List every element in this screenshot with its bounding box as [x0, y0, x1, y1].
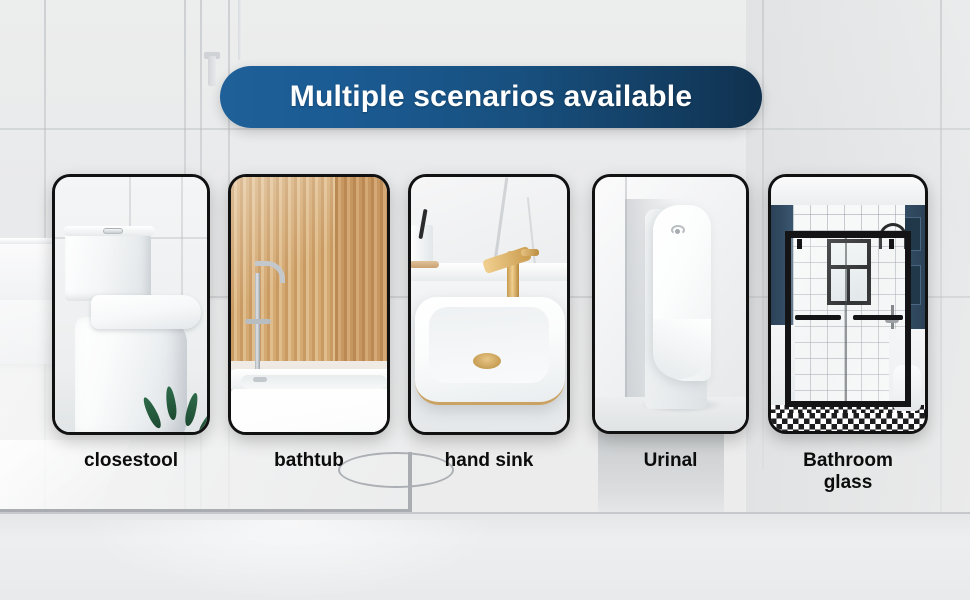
product-card-urinal[interactable] — [592, 174, 749, 434]
promo-banner: Multiple scenarios available closestool — [0, 0, 970, 600]
product-card-bathtub[interactable] — [228, 174, 390, 435]
faucet-stem — [255, 273, 260, 381]
flush-button-icon — [103, 228, 123, 234]
urinal-image — [595, 177, 746, 431]
wood-slat-wall-dark — [335, 177, 387, 361]
glass-door-panel — [791, 238, 905, 406]
shower-threshold — [785, 401, 911, 407]
faucet-lever — [521, 249, 539, 256]
sink-drain — [473, 353, 501, 369]
shower-frame-left — [785, 231, 791, 407]
faucet-handle — [245, 319, 271, 324]
floor-wall-junction — [0, 512, 970, 514]
glass-door-seam — [845, 237, 847, 407]
card-label-bathtub: bathtub — [228, 450, 390, 472]
shower-frame-top — [785, 231, 911, 238]
penny-tile-floor-front — [771, 413, 925, 431]
hand-sink-image — [411, 177, 567, 432]
door-handle — [853, 315, 903, 320]
card-label-urinal: Urinal — [592, 450, 749, 472]
product-card-bathroom-glass[interactable] — [768, 174, 928, 434]
product-card-closestool[interactable] — [52, 174, 210, 435]
title-banner-pill: Multiple scenarios available — [220, 66, 762, 128]
sink-basin-interior — [429, 307, 549, 383]
cup-base — [411, 261, 439, 268]
toilet-tank — [65, 231, 151, 301]
bathroom-glass-image — [771, 177, 925, 431]
product-card-hand-sink[interactable] — [408, 174, 570, 435]
wood-highlight — [231, 177, 335, 361]
sensor-dot-icon — [675, 229, 680, 234]
closestool-image — [55, 177, 207, 432]
door-roller — [797, 239, 802, 249]
bathtub-image — [231, 177, 387, 432]
gray-fixture-column — [598, 430, 724, 522]
card-label-closestool: closestool — [52, 450, 210, 472]
card-label-bathroom-glass: Bathroom glass — [768, 450, 928, 494]
card-label-hand-sink: hand sink — [408, 450, 570, 472]
banner-title: Multiple scenarios available — [290, 80, 692, 114]
shower-frame-right — [905, 231, 911, 407]
door-roller — [889, 239, 894, 249]
toilet-seat — [91, 295, 201, 329]
wall-fixture — [208, 56, 216, 86]
bathtub-overflow — [253, 377, 267, 382]
ceiling — [771, 177, 925, 205]
plant-decor — [147, 364, 207, 432]
door-handle — [795, 315, 841, 320]
floor-reflection — [80, 520, 500, 600]
wall-pipe — [238, 0, 242, 60]
